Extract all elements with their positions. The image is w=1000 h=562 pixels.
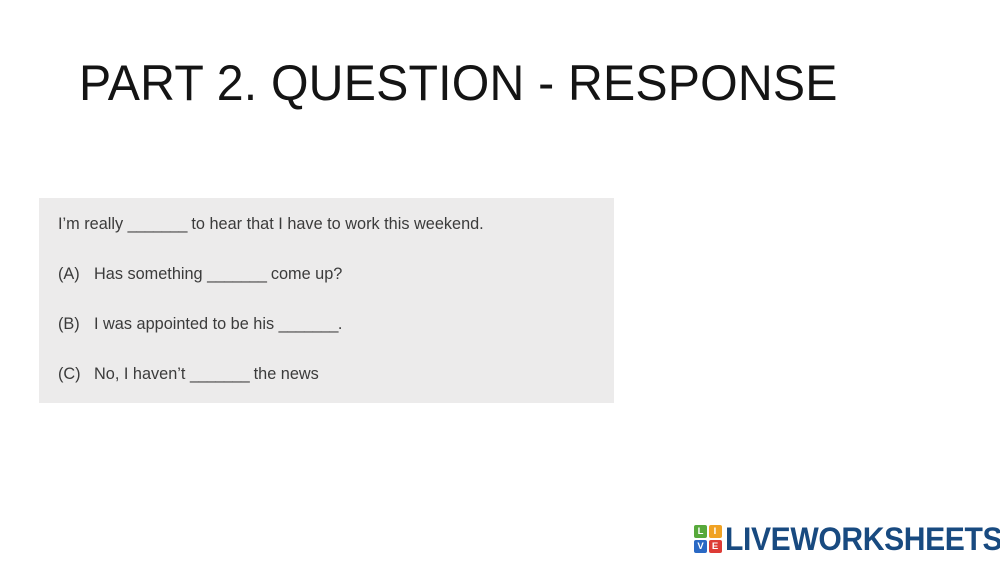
question-prompt: I’m really _______ to hear that I have t… xyxy=(39,211,614,237)
logo-tile-l: L xyxy=(694,525,707,538)
option-a-label: (A) xyxy=(58,261,94,287)
page-title: PART 2. QUESTION - RESPONSE xyxy=(79,53,838,113)
logo-tile-e: E xyxy=(709,540,722,553)
liveworksheets-logo: L I V E LIVEWORKSHEETS xyxy=(694,520,1000,558)
option-b-label: (B) xyxy=(58,311,94,337)
logo-tile-i: I xyxy=(709,525,722,538)
answer-option-a[interactable]: (A)Has something _______ come up? xyxy=(39,261,614,287)
prompt-text-before-blank: I’m really xyxy=(58,215,128,233)
option-c-label: (C) xyxy=(58,361,94,387)
option-c-text-before-blank: No, I haven’t xyxy=(94,365,190,383)
question-panel: I’m really _______ to hear that I have t… xyxy=(39,198,614,403)
option-b-text-after-blank: . xyxy=(338,315,343,333)
liveworksheets-logo-tiles-icon: L I V E xyxy=(694,525,722,553)
logo-tile-v: V xyxy=(694,540,707,553)
liveworksheets-wordmark: LIVEWORKSHEETS xyxy=(725,522,1000,556)
option-c-blank: _______ xyxy=(190,365,249,383)
slide-canvas: PART 2. QUESTION - RESPONSE I’m really _… xyxy=(0,0,1000,562)
prompt-text-after-blank: to hear that I have to work this weekend… xyxy=(187,215,484,233)
option-b-text-before-blank: I was appointed to be his xyxy=(94,315,279,333)
option-b-blank: _______ xyxy=(279,315,338,333)
option-c-text-after-blank: the news xyxy=(249,365,319,383)
answer-option-b[interactable]: (B)I was appointed to be his _______. xyxy=(39,311,614,337)
prompt-blank: _______ xyxy=(128,215,187,233)
option-a-blank: _______ xyxy=(207,265,266,283)
answer-option-c[interactable]: (C)No, I haven’t _______ the news xyxy=(39,361,614,387)
option-a-text-after-blank: come up? xyxy=(266,265,342,283)
option-a-text-before-blank: Has something xyxy=(94,265,207,283)
